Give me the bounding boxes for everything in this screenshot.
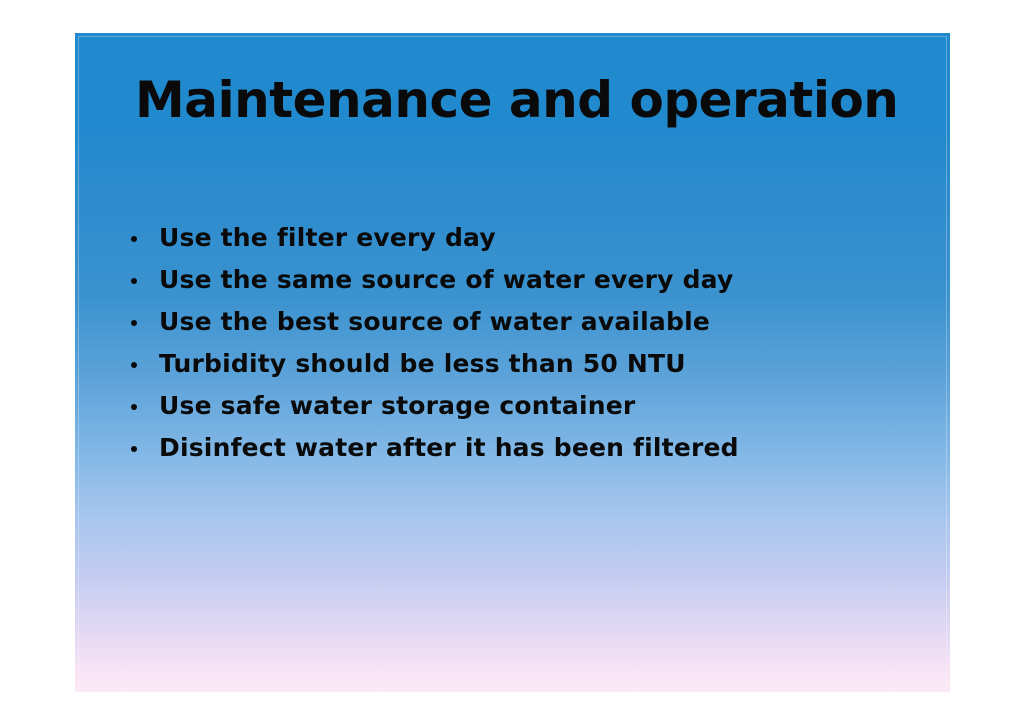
bullet-point-icon — [131, 362, 137, 368]
list-item-label: Use the best source of water available — [159, 302, 710, 342]
list-item: Disinfect water after it has been filter… — [127, 428, 927, 470]
list-item: Use the best source of water available — [127, 302, 927, 344]
list-item: Use the filter every day — [127, 218, 927, 260]
presentation-slide: Maintenance and operation Use the filter… — [75, 33, 950, 692]
slide-canvas: Maintenance and operation Use the filter… — [0, 0, 1024, 724]
bullet-point-icon — [131, 446, 137, 452]
bullet-point-icon — [131, 236, 137, 242]
list-item-label: Use the filter every day — [159, 218, 496, 258]
list-item-label: Use safe water storage container — [159, 386, 635, 426]
list-item-label: Turbidity should be less than 50 NTU — [159, 344, 686, 384]
list-item-label: Disinfect water after it has been filter… — [159, 428, 739, 468]
slide-title: Maintenance and operation — [135, 73, 890, 128]
bullet-point-icon — [131, 404, 137, 410]
list-item: Use safe water storage container — [127, 386, 927, 428]
bullet-point-icon — [131, 320, 137, 326]
list-item-label: Use the same source of water every day — [159, 260, 733, 300]
bullet-list: Use the filter every day Use the same so… — [127, 218, 927, 470]
bullet-point-icon — [131, 278, 137, 284]
list-item: Use the same source of water every day — [127, 260, 927, 302]
list-item: Turbidity should be less than 50 NTU — [127, 344, 927, 386]
